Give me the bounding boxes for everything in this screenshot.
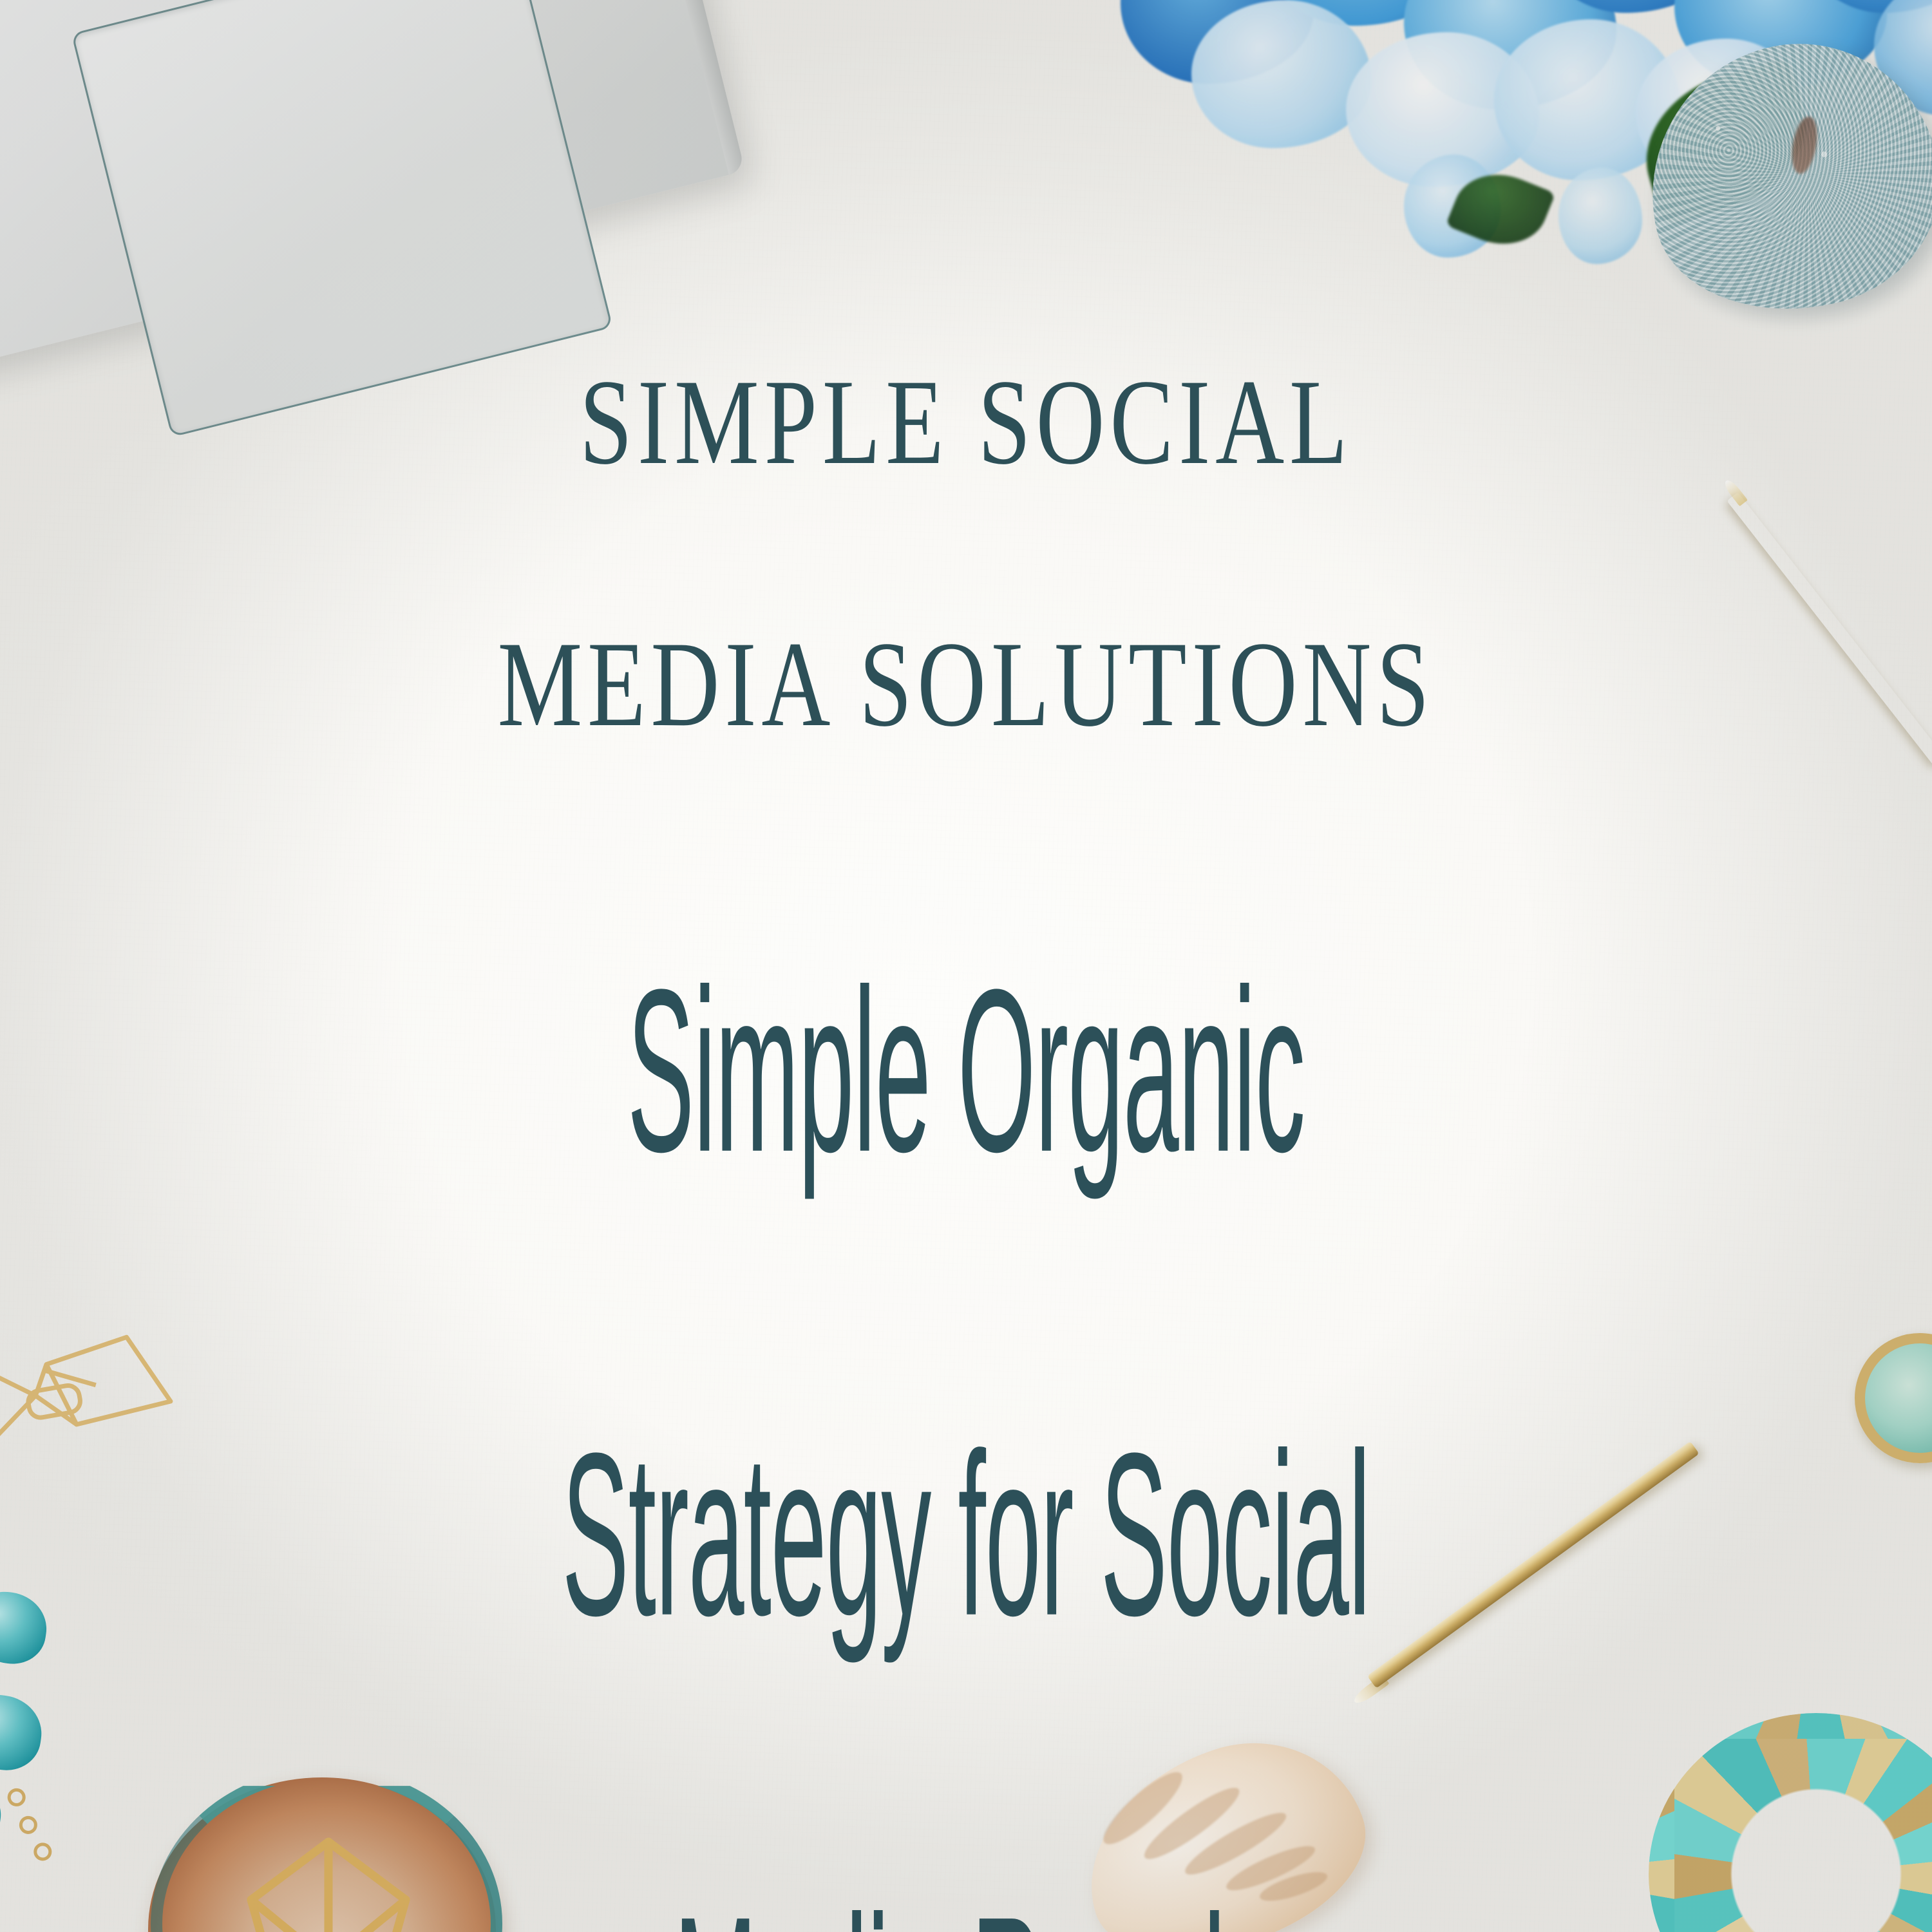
headline-line-2: Strategy for Social [464, 1418, 1468, 1650]
brand-eyebrow-line-1: SIMPLE SOCIAL [213, 357, 1719, 488]
headline: Simple Organic Strategy for Social Media… [464, 723, 1468, 1932]
social-graphic-canvas: SIMPLE SOCIAL MEDIA SOLUTIONS Simple Org… [0, 0, 1932, 1932]
headline-line-1: Simple Organic [464, 954, 1468, 1186]
headline-line-3: Media Reach [464, 1882, 1468, 1932]
